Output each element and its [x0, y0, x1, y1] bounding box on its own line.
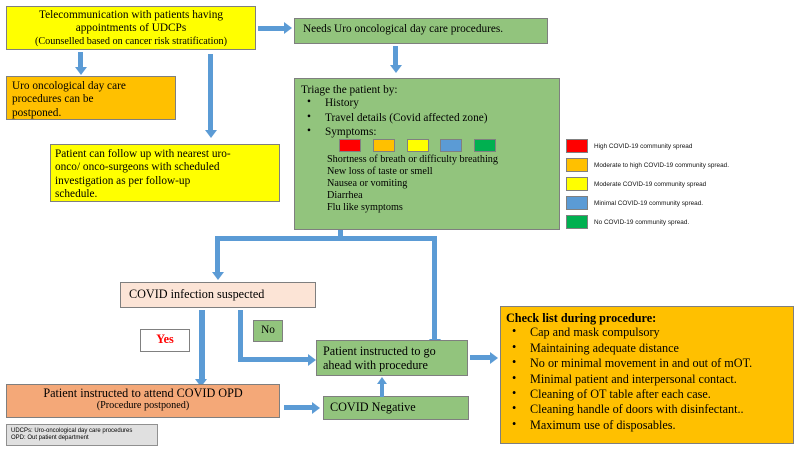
- legend-swatch-blue: [566, 196, 588, 210]
- node-checklist-during-procedure: Check list during procedure: Cap and mas…: [500, 306, 794, 444]
- connector-no-path-horizontal: [238, 357, 310, 362]
- node-procedures-postponed: Uro oncological day care procedures can …: [6, 76, 176, 120]
- triage-bullet-history: History: [301, 97, 553, 110]
- no-text: No: [261, 324, 275, 336]
- arrowhead-telecom-to-needs: [284, 22, 292, 34]
- legend-swatch-orange: [566, 158, 588, 172]
- swatch-orange: [373, 139, 395, 152]
- flowchart-canvas: Telecommunication with patients having a…: [0, 0, 800, 450]
- arrowhead-down-to-followup: [205, 130, 217, 138]
- node-go-ahead-with-procedure: Patient instructed to go ahead with proc…: [316, 340, 468, 376]
- legend-label-minimal: Minimal COVID-19 community spread.: [594, 200, 703, 207]
- arrowhead-telecom-to-postponed: [75, 67, 87, 75]
- legend-swatch-red: [566, 139, 588, 153]
- checklist-heading: Check list during procedure:: [506, 311, 788, 325]
- go-ahead-line-2: ahead with procedure: [323, 358, 461, 372]
- checklist-item: Cleaning of OT table after each case.: [506, 387, 788, 401]
- legend-row-high: High COVID-19 community spread: [566, 139, 692, 153]
- triage-bullets: History Travel details (Covid affected z…: [301, 97, 553, 152]
- legend-label-none: No COVID-19 community spread.: [594, 219, 689, 226]
- telecom-line-2: appointments of UDCPs: [7, 22, 255, 35]
- legend-label-moderate: Moderate COVID-19 community spread: [594, 181, 706, 188]
- followup-line-4: schedule.: [55, 188, 275, 201]
- abbrev-line-2: OPD: Out patient department: [11, 435, 153, 442]
- followup-line-3: investigation as per follow-up: [55, 175, 275, 188]
- node-telecommunication: Telecommunication with patients having a…: [6, 6, 256, 50]
- checklist-item: Maintaining adequate distance: [506, 341, 788, 355]
- label-no: No: [253, 320, 283, 342]
- triage-symptom-list: Shortness of breath or difficulty breath…: [301, 154, 553, 214]
- symptom-item: Diarrhea: [327, 190, 553, 202]
- arrowhead-needs-to-triage: [390, 65, 402, 73]
- covid-opd-line-2: (Procedure postponed): [7, 400, 279, 412]
- postponed-line-1: Uro oncological day care: [12, 80, 170, 93]
- label-yes: Yes: [140, 329, 190, 352]
- arrowhead-no-path: [308, 354, 316, 366]
- node-covid-suspected: COVID infection suspected: [120, 282, 316, 308]
- checklist-items: Cap and mask compulsory Maintaining adeq…: [506, 325, 788, 432]
- connector-negative-to-goahead: [380, 383, 384, 397]
- arrowhead-bus-to-suspected: [212, 272, 224, 280]
- triage-bullet-symptoms: Symptoms:: [301, 126, 553, 153]
- covid-negative-text: COVID Negative: [330, 400, 462, 414]
- swatch-green: [474, 139, 496, 152]
- arrowhead-negative-to-goahead: [377, 377, 387, 384]
- legend-label-high: High COVID-19 community spread: [594, 143, 692, 150]
- telecom-line-1: Telecommunication with patients having: [7, 9, 255, 22]
- connector-goahead-to-checklist: [470, 355, 492, 360]
- checklist-item: No or minimal movement in and out of mOT…: [506, 356, 788, 370]
- swatch-blue: [440, 139, 462, 152]
- abbrev-line-1: UDCPs: Uro-oncological day care procedur…: [11, 428, 153, 435]
- legend-row-moderate-high: Moderate to high COVID-19 community spre…: [566, 158, 729, 172]
- swatch-yellow: [407, 139, 429, 152]
- arrowhead-opd-to-negative: [312, 402, 320, 414]
- postponed-line-2: procedures can be: [12, 93, 170, 106]
- symptom-item: Nausea or vomiting: [327, 178, 553, 190]
- node-covid-negative: COVID Negative: [323, 396, 469, 420]
- checklist-item: Maximum use of disposables.: [506, 418, 788, 432]
- checklist-item: Cleaning handle of doors with disinfecta…: [506, 402, 788, 416]
- telecom-line-3: (Counselled based on cancer risk stratif…: [7, 36, 255, 48]
- covid-opd-line-1: Patient instructed to attend COVID OPD: [7, 386, 279, 400]
- followup-line-1: Patient can follow up with nearest uro-: [55, 148, 275, 161]
- symptom-item: Flu like symptoms: [327, 202, 553, 214]
- go-ahead-line-1: Patient instructed to go: [323, 344, 461, 358]
- symptom-item: New loss of taste or smell: [327, 166, 553, 178]
- symptom-item: Shortness of breath or difficulty breath…: [327, 154, 553, 166]
- node-covid-opd: Patient instructed to attend COVID OPD (…: [6, 384, 280, 418]
- legend-label-moderate-high: Moderate to high COVID-19 community spre…: [594, 162, 729, 169]
- symptom-color-swatches: [339, 139, 505, 152]
- postponed-line-3: postponed.: [12, 107, 170, 120]
- node-triage: Triage the patient by: History Travel de…: [294, 78, 560, 230]
- swatch-red: [339, 139, 361, 152]
- triage-bullet-travel: Travel details (Covid affected zone): [301, 112, 553, 125]
- checklist-item: Cap and mask compulsory: [506, 325, 788, 339]
- legend-row-minimal: Minimal COVID-19 community spread.: [566, 196, 703, 210]
- followup-line-2: onco/ onco-surgeons with scheduled: [55, 161, 275, 174]
- legend-row-none: No COVID-19 community spread.: [566, 215, 689, 229]
- covid-suspected-text: COVID infection suspected: [129, 287, 307, 301]
- arrowhead-goahead-to-checklist: [490, 352, 498, 364]
- connector-no-path-vertical: [238, 310, 243, 362]
- node-needs-udcp: Needs Uro oncological day care procedure…: [294, 18, 548, 44]
- connector-opd-to-negative: [284, 405, 314, 410]
- connector-telecom-to-needs: [258, 26, 286, 31]
- connector-bus-to-goahead: [432, 236, 437, 341]
- connector-yes-path: [199, 310, 205, 382]
- connector-down-to-followup: [208, 54, 213, 132]
- connector-triage-bus: [215, 236, 437, 241]
- connector-bus-to-suspected: [215, 236, 220, 274]
- legend-swatch-green: [566, 215, 588, 229]
- yes-text: Yes: [156, 332, 174, 346]
- triage-heading: Triage the patient by:: [301, 84, 553, 97]
- legend-swatch-yellow: [566, 177, 588, 191]
- abbreviations-footnote: UDCPs: Uro-oncological day care procedur…: [6, 424, 158, 446]
- checklist-item: Minimal patient and interpersonal contac…: [506, 372, 788, 386]
- node-patient-followup: Patient can follow up with nearest uro- …: [50, 144, 280, 202]
- needs-udcp-text: Needs Uro oncological day care procedure…: [303, 23, 539, 36]
- legend-row-moderate: Moderate COVID-19 community spread: [566, 177, 706, 191]
